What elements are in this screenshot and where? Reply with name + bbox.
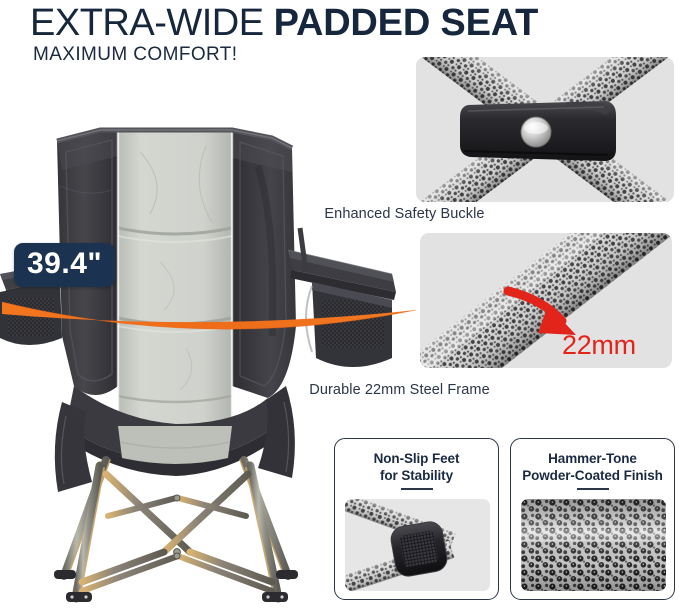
page-title: EXTRA-WIDE PADDED SEAT (30, 2, 670, 44)
subtitle: MAXIMUM COMFORT! (33, 44, 237, 66)
title-bold-part: PADDED SEAT (274, 2, 539, 44)
width-measurement-badge: 39.4" (14, 243, 115, 287)
card-powder-coat-title: Hammer-Tone Powder-Coated Finish (511, 450, 674, 484)
card-divider (577, 488, 609, 490)
callout-22mm: 22mm (562, 330, 636, 361)
chair-product-image (0, 86, 420, 606)
powder-coat-texture-photo (521, 499, 666, 591)
title-light-part: EXTRA-WIDE (30, 2, 264, 44)
card-title-line1: Hammer-Tone (548, 451, 637, 466)
width-indicator-arrow (0, 86, 420, 606)
card-powder-coated-finish: Hammer-Tone Powder-Coated Finish (510, 438, 675, 600)
panel-enhanced-safety-buckle (416, 57, 674, 202)
buckle-photo (416, 57, 674, 202)
card-title-line2: Powder-Coated Finish (522, 468, 663, 483)
